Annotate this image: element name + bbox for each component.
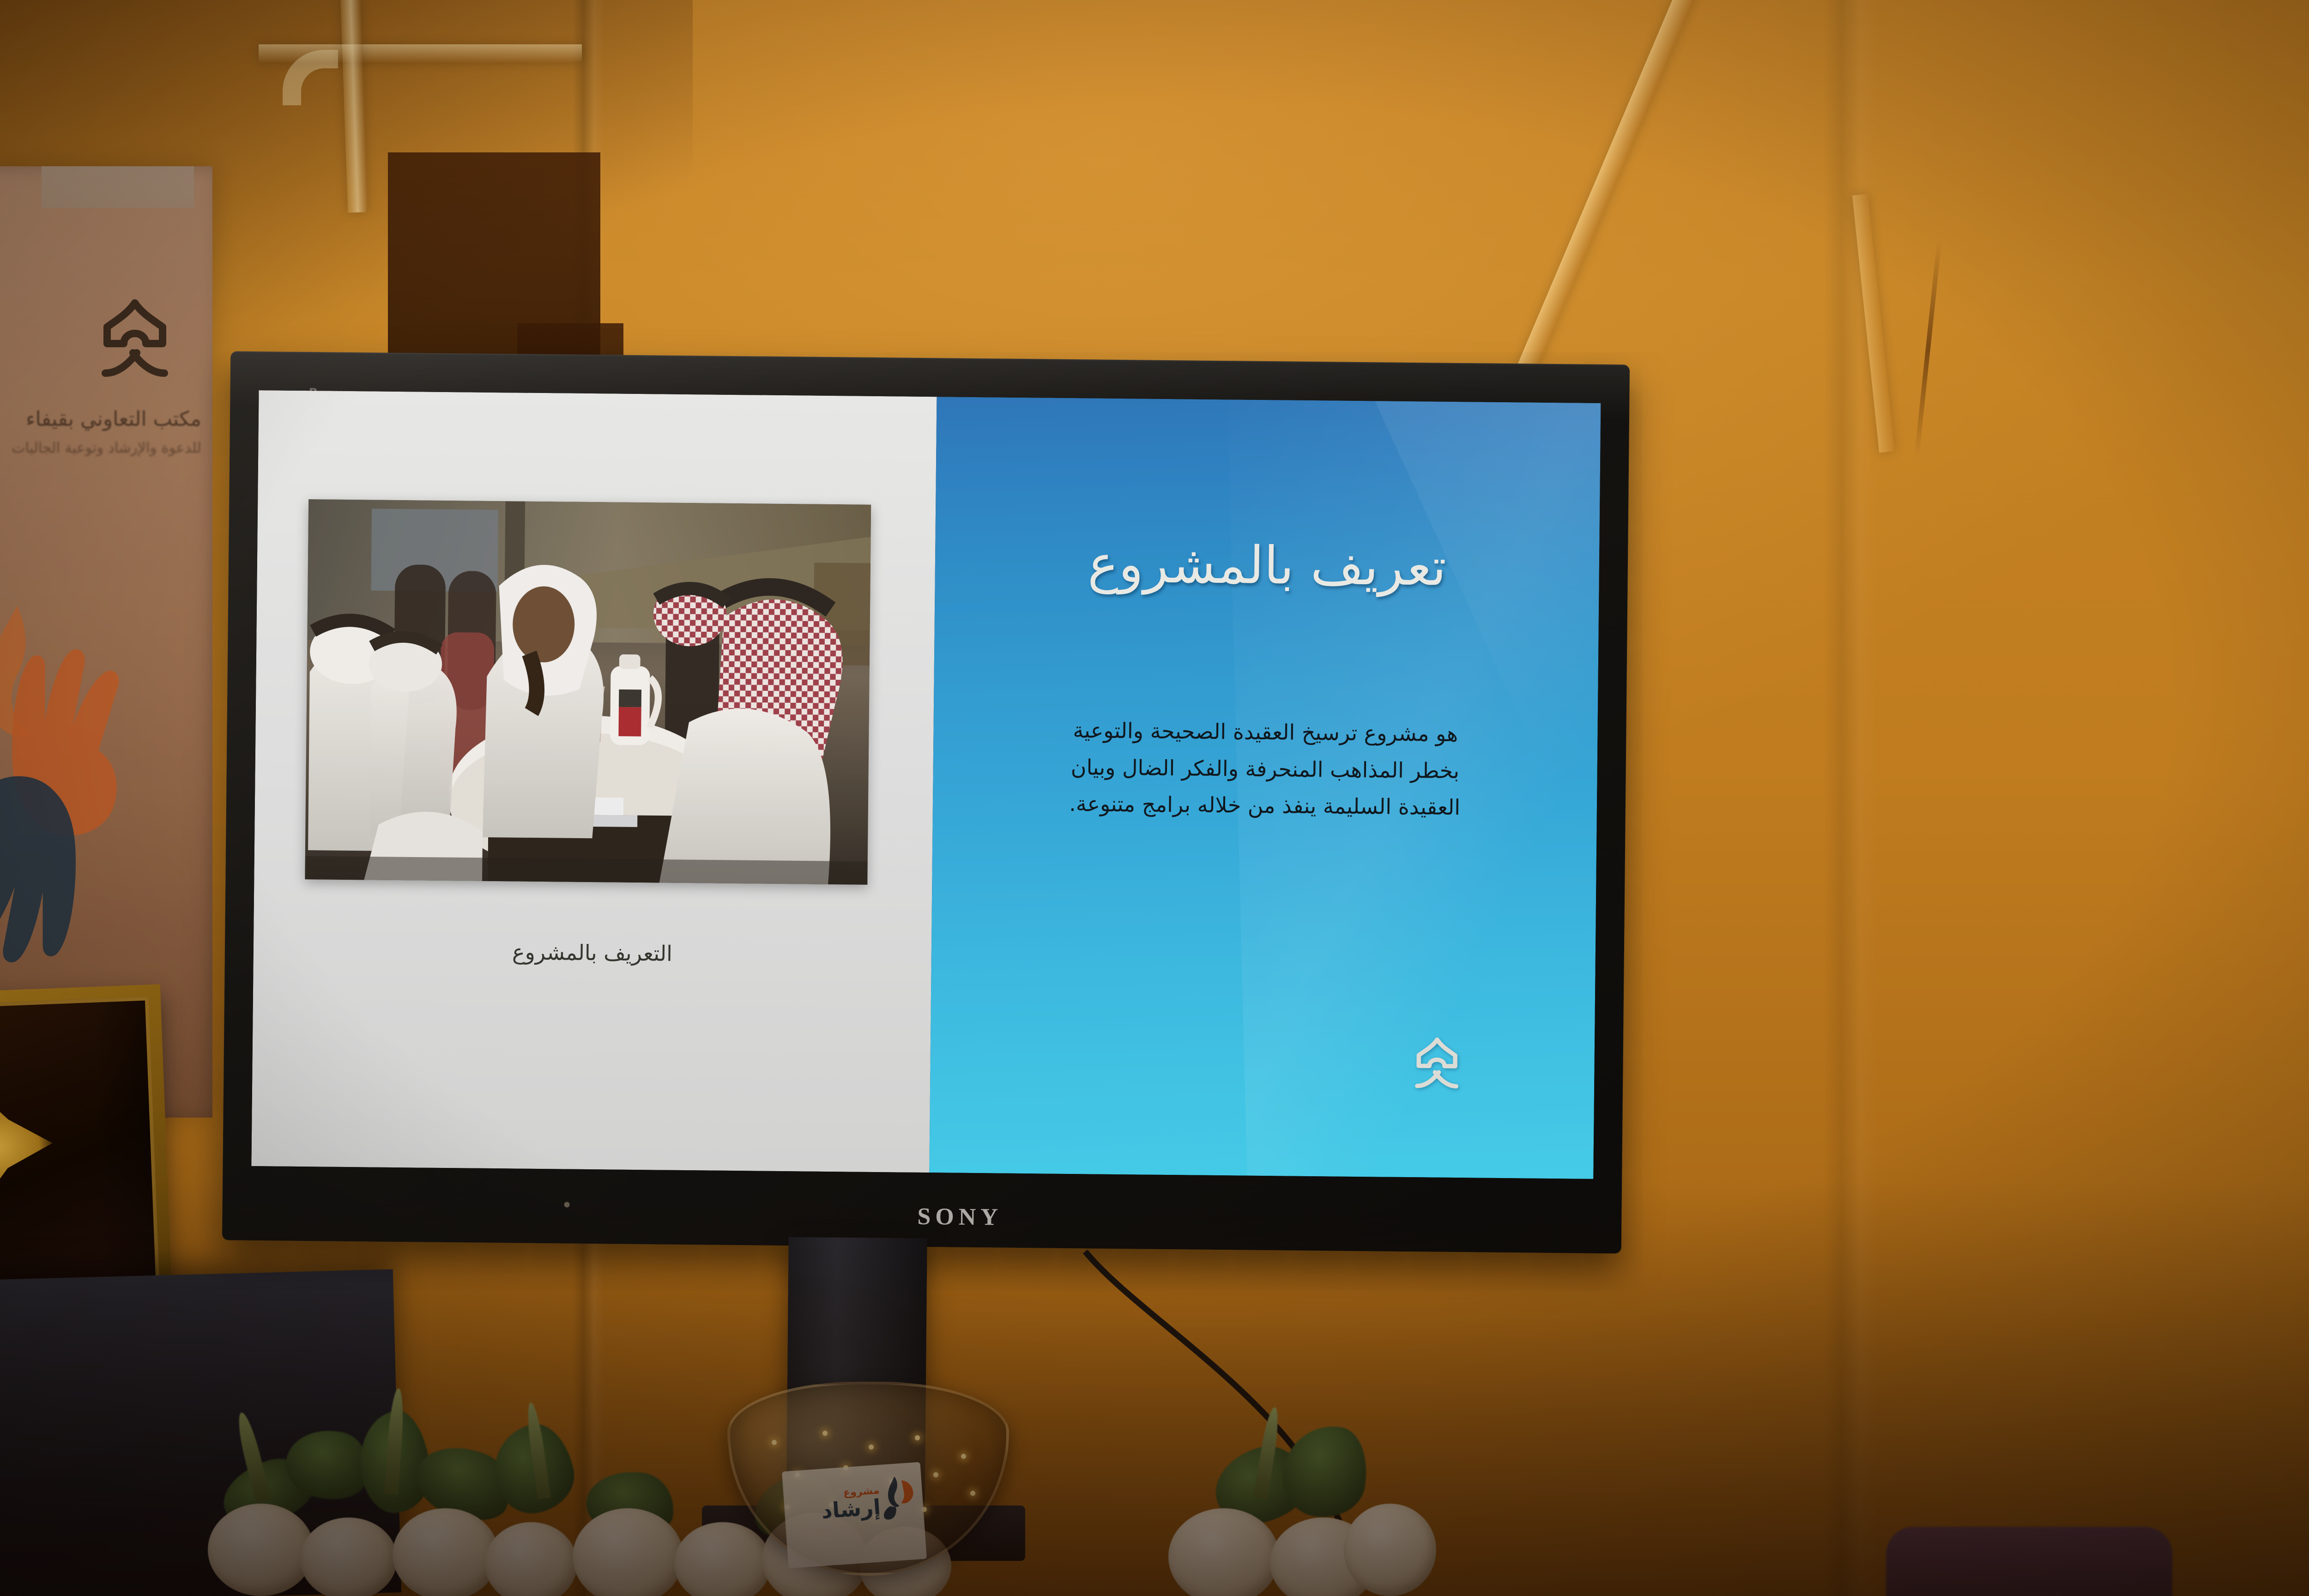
- slide-body-line: بخطر المذاهب المنحرفة والفكر الضال وبيان: [976, 748, 1554, 790]
- dark-hand-icon: [0, 767, 106, 984]
- arch-dome-icon: [1405, 1033, 1469, 1096]
- banner-title: مكتب التعاوني بقيفاء: [0, 407, 201, 431]
- bottom-shadow: [0, 1180, 2309, 1596]
- banner-subtitle: للدعوة والإرشاد وتوعية الجاليات: [0, 440, 201, 456]
- slide-left-panel: التعريف بالمشروع: [251, 390, 937, 1173]
- monitor[interactable]: Bravia: [222, 351, 1630, 1254]
- slide-photo: [305, 499, 871, 885]
- rollup-banner: مكتب التعاوني بقيفاء للدعوة والإرشاد وتو…: [0, 166, 212, 1118]
- slide-body-text: هو مشروع ترسيخ العقيدة الصحيحة والتوعية …: [976, 711, 1555, 826]
- photo-scene: مكتب التعاوني بقيفاء للدعوة والإرشاد وتو…: [0, 0, 2309, 1596]
- slide-title: تعريف بالمشروع: [971, 533, 1563, 598]
- slide-right-panel: تعريف بالمشروع هو مشروع ترسيخ العقيدة ال…: [929, 397, 1601, 1179]
- slide-body-line: العقيدة السليمة ينفذ من خلاله برامج متنو…: [976, 785, 1554, 827]
- slide-caption: التعريف بالمشروع: [254, 937, 931, 968]
- monitor-screen: التعريف بالمشروع تعريف بالمشروع هو مشروع…: [251, 390, 1601, 1179]
- slide-body-line: هو مشروع ترسيخ العقيدة الصحيحة والتوعية: [976, 711, 1554, 753]
- arch-dome-icon: [89, 296, 181, 388]
